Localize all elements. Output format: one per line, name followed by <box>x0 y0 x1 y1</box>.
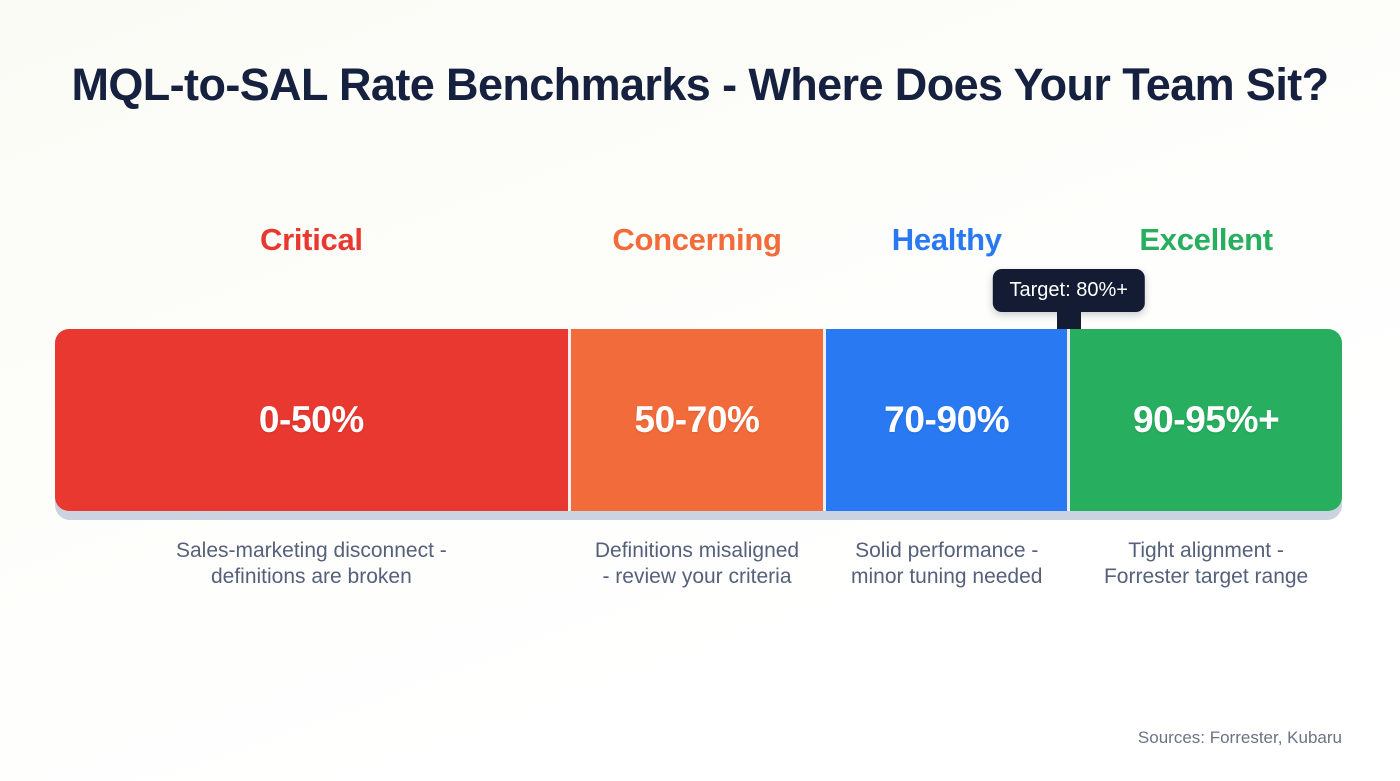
caption-concerning: Definitions misaligned- review your crit… <box>557 538 838 590</box>
caption-line-2: definitions are broken <box>41 564 582 590</box>
infographic-canvas: MQL-to-SAL Rate Benchmarks - Where Does … <box>0 0 1400 781</box>
segment-captions-row: Sales-marketing disconnect -definitions … <box>55 538 1342 602</box>
page-title: MQL-to-SAL Rate Benchmarks - Where Does … <box>0 54 1400 116</box>
category-labels-row: CriticalConcerningHealthyExcellent <box>55 216 1342 264</box>
caption-critical: Sales-marketing disconnect -definitions … <box>41 538 582 590</box>
caption-line-2: minor tuning needed <box>812 564 1081 590</box>
bar-segment-range-label: 50-70% <box>634 398 759 442</box>
target-tooltip-label: Target: 80%+ <box>993 269 1145 312</box>
bar-segment-excellent[interactable]: 90-95%+ <box>1070 329 1342 511</box>
bar-segment-range-label: 70-90% <box>884 398 1009 442</box>
caption-excellent: Tight alignment -Forrester target range <box>1056 538 1356 590</box>
caption-line-2: - review your criteria <box>557 564 838 590</box>
bar-segment-healthy[interactable]: 70-90% <box>826 329 1067 511</box>
caption-line-2: Forrester target range <box>1056 564 1356 590</box>
category-label-critical: Critical <box>55 216 568 264</box>
caption-line-1: Sales-marketing disconnect - <box>41 538 582 564</box>
caption-line-1: Tight alignment - <box>1056 538 1356 564</box>
caption-healthy: Solid performance -minor tuning needed <box>812 538 1081 590</box>
caption-line-1: Solid performance - <box>812 538 1081 564</box>
category-label-excellent: Excellent <box>1070 216 1342 264</box>
bar-segment-range-label: 90-95%+ <box>1133 398 1279 442</box>
benchmark-bar: 0-50%50-70%70-90%90-95%+ <box>55 329 1342 511</box>
bar-segment-concerning[interactable]: 50-70% <box>571 329 824 511</box>
category-label-concerning: Concerning <box>571 216 824 264</box>
sources-note: Sources: Forrester, Kubaru <box>1138 727 1342 749</box>
caption-line-1: Definitions misaligned <box>557 538 838 564</box>
category-label-healthy: Healthy <box>826 216 1067 264</box>
bar-segment-critical[interactable]: 0-50% <box>55 329 568 511</box>
bar-segment-range-label: 0-50% <box>259 398 364 442</box>
